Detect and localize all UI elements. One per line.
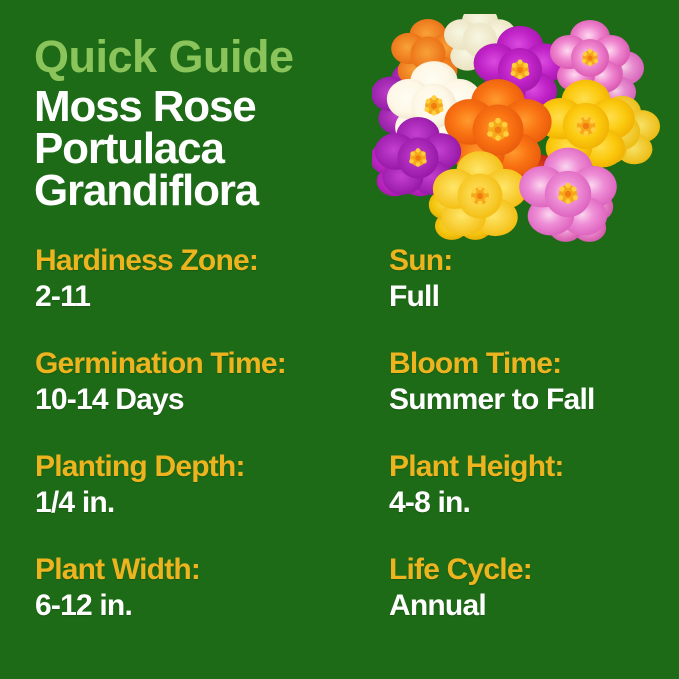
spec-item-sun: Sun: Full [389, 243, 674, 315]
spec-value: 4-8 in. [389, 485, 674, 521]
spec-label: Sun: [389, 243, 674, 279]
spec-label: Germination Time: [35, 346, 380, 382]
spec-value: 1/4 in. [35, 485, 380, 521]
spec-value: 6-12 in. [35, 588, 380, 624]
spec-value: Full [389, 279, 674, 315]
spec-label: Hardiness Zone: [35, 243, 380, 279]
title-line-2: Portulaca [34, 128, 374, 170]
spec-item-bloom-time: Bloom Time: Summer to Fall [389, 346, 674, 418]
spec-value: 10-14 Days [35, 382, 380, 418]
spec-item-germination-time: Germination Time: 10-14 Days [35, 346, 380, 418]
spec-item-life-cycle: Life Cycle: Annual [389, 552, 674, 624]
spec-item-planting-depth: Planting Depth: 1/4 in. [35, 449, 380, 521]
spec-label: Planting Depth: [35, 449, 380, 485]
spec-item-hardiness-zone: Hardiness Zone: 2-11 [35, 243, 380, 315]
spec-label: Bloom Time: [389, 346, 674, 382]
title-line-3: Grandiflora [34, 170, 374, 212]
spec-value: Annual [389, 588, 674, 624]
spec-grid: Hardiness Zone: 2-11 Sun: Full Germinati… [0, 243, 679, 655]
title-line-1: Moss Rose [34, 86, 374, 128]
header: Quick Guide Moss Rose Portulaca Grandifl… [34, 34, 374, 212]
flower-bouquet-image [372, 14, 660, 244]
quick-guide-card: Quick Guide Moss Rose Portulaca Grandifl… [0, 0, 679, 679]
spec-value: 2-11 [35, 279, 380, 315]
spec-item-plant-width: Plant Width: 6-12 in. [35, 552, 380, 624]
spec-label: Life Cycle: [389, 552, 674, 588]
spec-row: Hardiness Zone: 2-11 Sun: Full [0, 243, 679, 346]
spec-item-plant-height: Plant Height: 4-8 in. [389, 449, 674, 521]
spec-row: Germination Time: 10-14 Days Bloom Time:… [0, 346, 679, 449]
spec-row: Plant Width: 6-12 in. Life Cycle: Annual [0, 552, 679, 655]
spec-label: Plant Height: [389, 449, 674, 485]
spec-label: Plant Width: [35, 552, 380, 588]
eyebrow-quick-guide: Quick Guide [34, 34, 374, 80]
spec-value: Summer to Fall [389, 382, 674, 418]
page-title: Moss Rose Portulaca Grandiflora [34, 86, 374, 212]
spec-row: Planting Depth: 1/4 in. Plant Height: 4-… [0, 449, 679, 552]
